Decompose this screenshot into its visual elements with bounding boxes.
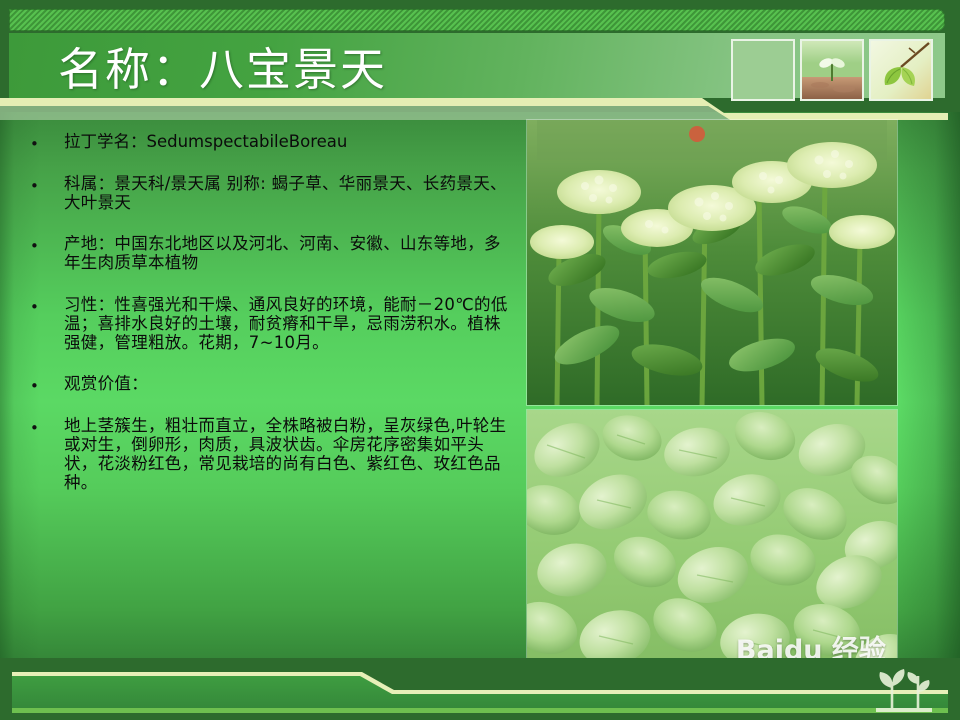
bullet-marker: • — [30, 416, 64, 436]
sedum-leaves-illustration — [527, 410, 897, 706]
bullet-marker: • — [30, 174, 64, 194]
seedling-icon — [802, 41, 862, 99]
list-item: • 习性：性喜强光和干燥、通风良好的环境，能耐－20℃的低温；喜排水良好的土壤，… — [30, 295, 510, 352]
sedum-leaves-photo: Baidu 经验 jingyan.baidu.com jingyan.baidu… — [527, 410, 897, 706]
bullet-text: 地上茎簇生，粗壮而直立，全株略被白粉，呈灰绿色,叶轮生或对生，倒卵形，肉质，具波… — [64, 416, 510, 493]
leaf-branch-thumbnail — [869, 39, 933, 101]
content-bullet-list: • 拉丁学名：SedumspectabileBoreau • 科属：景天科/景天… — [30, 132, 510, 652]
page-title: 名称：八宝景天 — [58, 33, 387, 98]
bullet-marker: • — [30, 295, 64, 315]
list-item: • 拉丁学名：SedumspectabileBoreau — [30, 132, 510, 152]
list-item: • 地上茎簇生，粗壮而直立，全株略被白粉，呈灰绿色,叶轮生或对生，倒卵形，肉质，… — [30, 416, 510, 493]
bullet-text: 观赏价值： — [64, 374, 510, 393]
bullet-marker: • — [30, 374, 64, 394]
slide-root: 名称：八宝景天 — [0, 0, 960, 720]
bullet-text: 习性：性喜强光和干燥、通风良好的环境，能耐－20℃的低温；喜排水良好的土壤，耐贫… — [64, 295, 510, 352]
sedum-flower-illustration — [527, 120, 897, 405]
bullet-text: 科属：景天科/景天属 别称: 蝎子草、华丽景天、长药景天、大叶景天 — [64, 174, 510, 212]
bullet-marker: • — [30, 234, 64, 254]
bullet-text: 拉丁学名：SedumspectabileBoreau — [64, 132, 510, 151]
blank-green-thumbnail — [731, 39, 795, 101]
list-item: • 科属：景天科/景天属 别称: 蝎子草、华丽景天、长药景天、大叶景天 — [30, 174, 510, 212]
list-item: • 观赏价值： — [30, 374, 510, 394]
header-thumbnail-group — [731, 39, 933, 101]
leaf-branch-icon — [871, 41, 931, 99]
slide-header: 名称：八宝景天 — [0, 0, 960, 112]
sedum-flower-photo — [527, 120, 897, 405]
list-item: • 产地：中国东北地区以及河北、河南、安徽、山东等地，多年生肉质草本植物 — [30, 234, 510, 272]
seedling-thumbnail — [800, 39, 864, 101]
bullet-text: 产地：中国东北地区以及河北、河南、安徽、山东等地，多年生肉质草本植物 — [64, 234, 510, 272]
bullet-marker: • — [30, 132, 64, 152]
header-hatch-strip — [9, 9, 945, 31]
